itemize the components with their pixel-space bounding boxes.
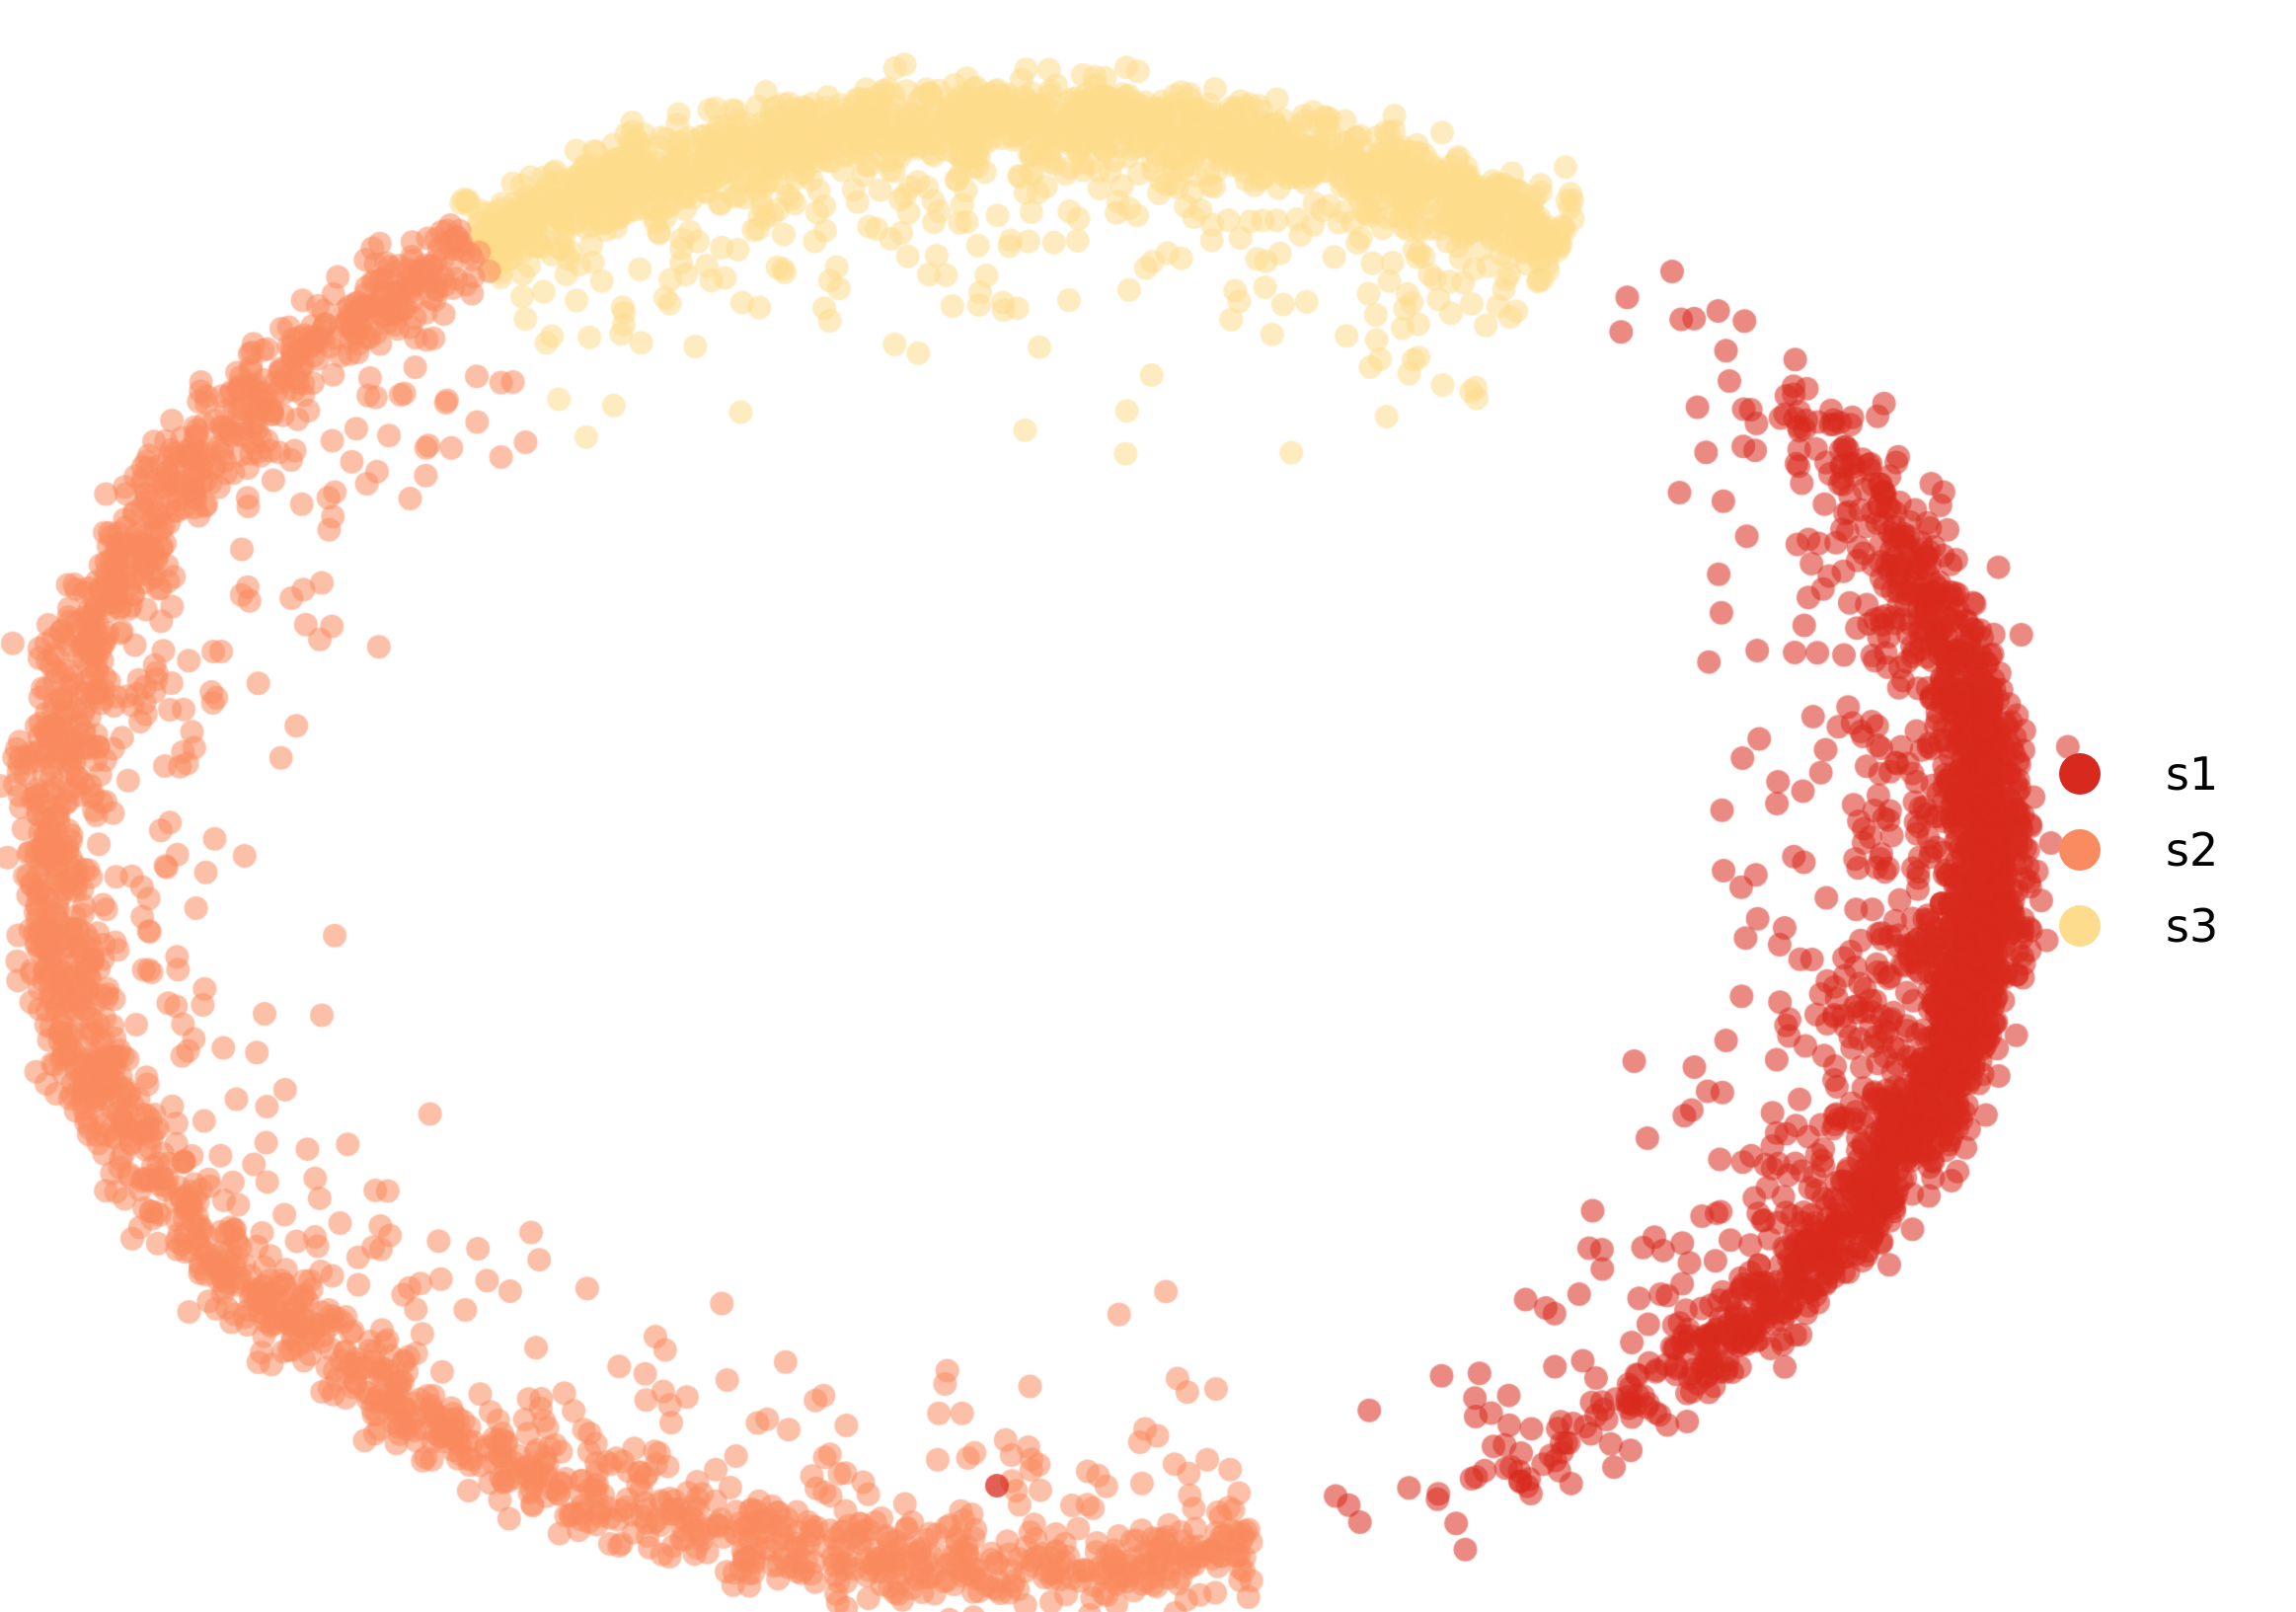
legend-item-s3[interactable]: s3 — [2059, 887, 2276, 963]
legend-label-s3: s3 — [2166, 903, 2218, 949]
legend-label-s2: s2 — [2166, 827, 2218, 873]
legend-swatch-icon-s1 — [2059, 753, 2101, 795]
scatter-plot-canvas — [0, 0, 2296, 1612]
legend-swatch-icon-s3 — [2059, 905, 2101, 947]
legend-swatch-icon-s2 — [2059, 829, 2101, 871]
legend-item-s2[interactable]: s2 — [2059, 811, 2276, 887]
scatter-plot-figure: scRNAKinetics s1 s2 s3 — [0, 0, 2296, 1612]
legend-label-s1: s1 — [2166, 751, 2218, 797]
legend: s1 s2 s3 — [2059, 735, 2276, 963]
legend-item-s1[interactable]: s1 — [2059, 735, 2276, 811]
